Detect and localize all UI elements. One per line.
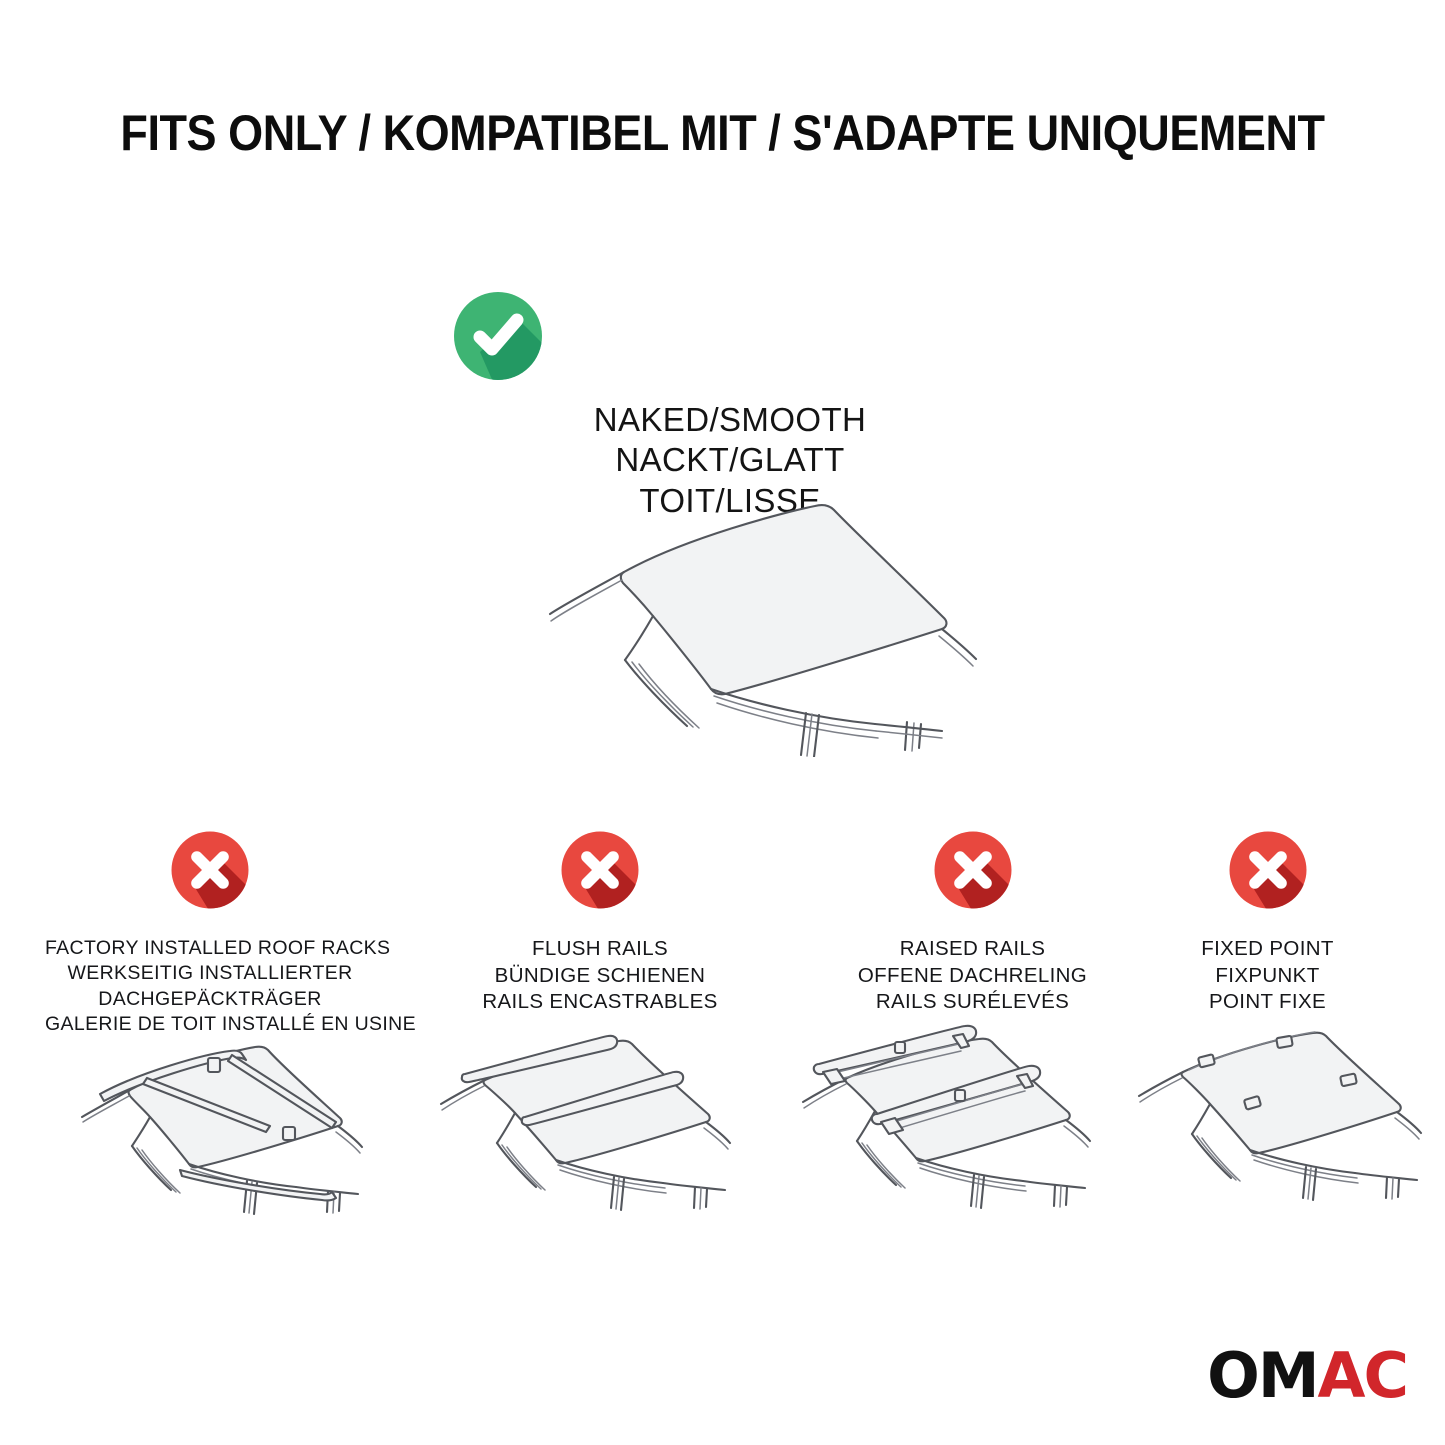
page-title: FITS ONLY / KOMPATIBEL MIT / S'ADAPTE UN… — [72, 104, 1373, 162]
label-en: FIXED POINT — [1150, 936, 1385, 963]
column-labels: RAISED RAILS OFFENE DACHRELING RAILS SUR… — [790, 936, 1155, 1016]
car-roof-flush-rails-illustration — [425, 1022, 800, 1237]
label-de: OFFENE DACHRELING — [790, 963, 1155, 990]
logo-part-dark: OM — [1207, 1339, 1317, 1412]
label-de-line1: WERKSEITIG INSTALLIERTER — [45, 961, 375, 986]
label-fr: RAILS SURÉLEVÉS — [790, 989, 1155, 1016]
label-fr: POINT FIXE — [1150, 989, 1385, 1016]
omac-logo: OMAC — [1207, 1345, 1407, 1407]
label-en: RAISED RAILS — [790, 936, 1155, 963]
column-labels: FLUSH RAILS BÜNDIGE SCHIENEN RAILS ENCAS… — [430, 936, 770, 1016]
label-en: FACTORY INSTALLED ROOF RACKS — [45, 936, 375, 961]
red-x-circle-icon — [45, 828, 375, 928]
label-de: BÜNDIGE SCHIENEN — [430, 963, 770, 990]
car-roof-raised-rails-illustration — [785, 1022, 1160, 1237]
car-roof-fixed-point-illustration — [1125, 1022, 1445, 1237]
red-x-circle-icon — [790, 828, 1155, 928]
rejected-column-raised-rails: RAISED RAILS OFFENE DACHRELING RAILS SUR… — [790, 828, 1155, 1016]
label-de: FIXPUNKT — [1150, 963, 1385, 990]
green-check-circle-icon — [450, 288, 1010, 384]
approved-fitment-block: NAKED/SMOOTH NACKT/GLATT TOIT/LISSE — [450, 288, 1010, 521]
rejected-column-factory-installed-roof-racks: FACTORY INSTALLED ROOF RACKS WERKSEITIG … — [45, 828, 375, 1037]
rejected-column-fixed-point: FIXED POINT FIXPUNKT POINT FIXE — [1150, 828, 1385, 1016]
red-x-circle-icon — [430, 828, 770, 928]
label-fr: RAILS ENCASTRABLES — [430, 989, 770, 1016]
label-de-line2: DACHGEPÄCKTRÄGER — [45, 987, 375, 1012]
car-roof-naked-smooth-illustration — [455, 492, 1010, 757]
car-roof-factory-racks-illustration — [40, 1022, 420, 1237]
approved-label-en: NAKED/SMOOTH — [450, 400, 1010, 440]
label-en: FLUSH RAILS — [430, 936, 770, 963]
logo-part-accent: AC — [1318, 1339, 1407, 1412]
approved-label-de: NACKT/GLATT — [450, 440, 1010, 480]
fitment-compatibility-infographic: FITS ONLY / KOMPATIBEL MIT / S'ADAPTE UN… — [0, 0, 1445, 1445]
rejected-column-flush-rails: FLUSH RAILS BÜNDIGE SCHIENEN RAILS ENCAS… — [430, 828, 770, 1016]
logo-text: OMAC — [1207, 1345, 1407, 1407]
column-labels: FIXED POINT FIXPUNKT POINT FIXE — [1150, 936, 1385, 1016]
red-x-circle-icon — [1150, 828, 1385, 928]
